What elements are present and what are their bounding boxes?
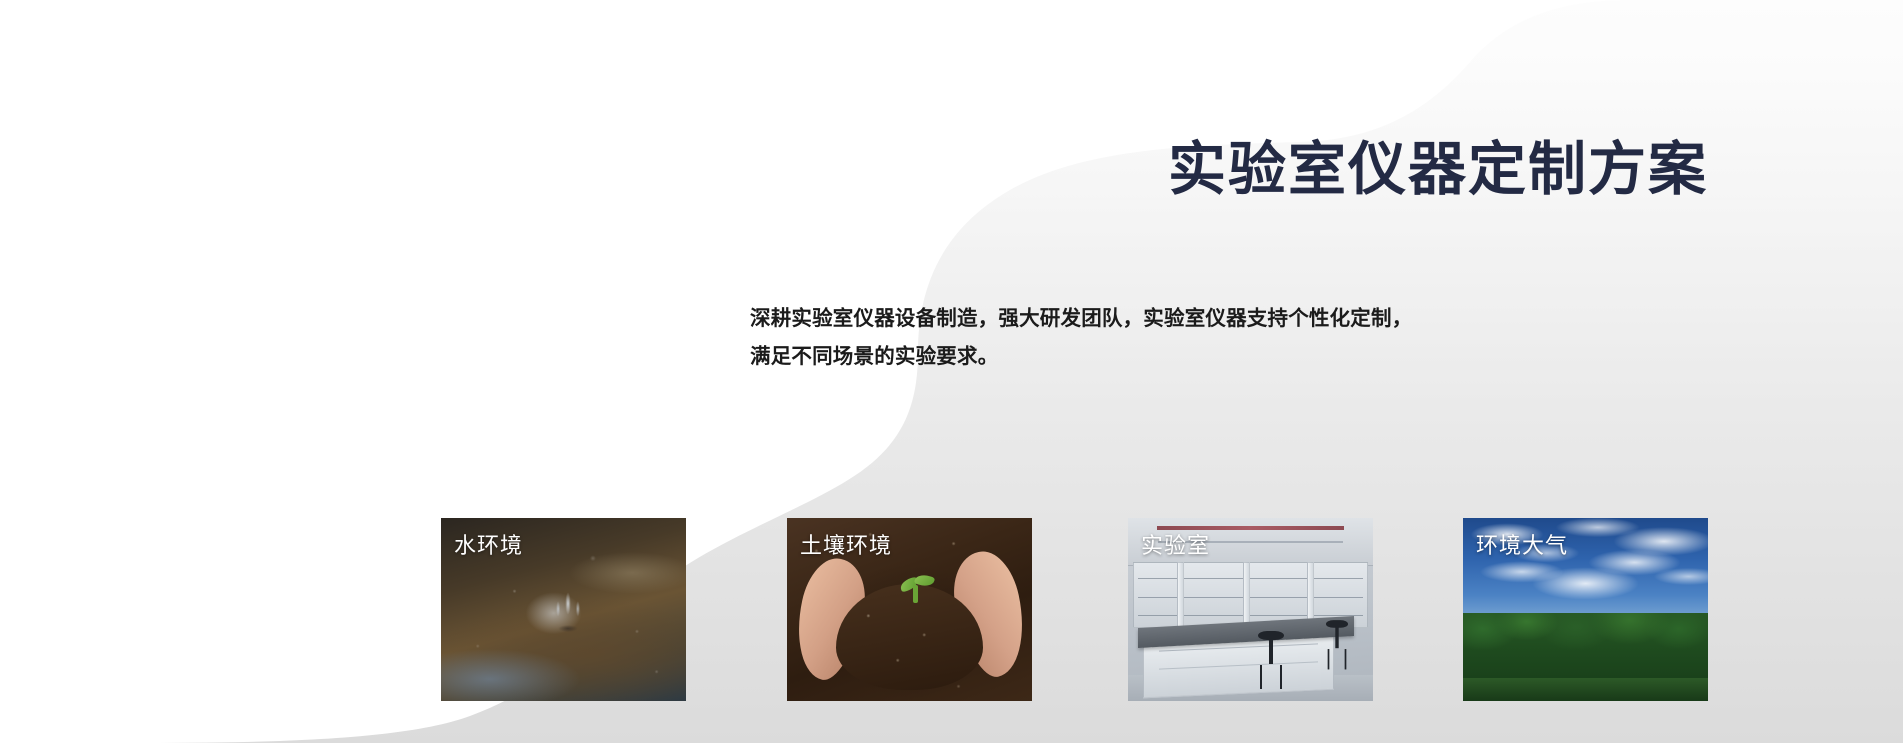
decorative-circle-small: [296, 541, 366, 611]
forest-treeline-detail: [1463, 613, 1708, 701]
category-card-label: 土壤环境: [800, 528, 892, 560]
lab-shelf-detail: [1138, 597, 1363, 598]
category-card-soil[interactable]: 土壤环境: [787, 518, 1032, 701]
category-card-label: 水环境: [454, 528, 523, 560]
category-card-list: 水环境 土壤环境: [441, 518, 1708, 701]
page-title: 实验室仪器定制方案: [1168, 138, 1708, 202]
category-card-label: 实验室: [1141, 528, 1210, 560]
laboratory-instrument-banner: 实验室仪器定制方案 深耕实验室仪器设备制造，强大研发团队，实验室仪器支持个性化定…: [0, 0, 1903, 743]
banner-subtitle: 深耕实验室仪器设备制造，强大研发团队，实验室仪器支持个性化定制， 满足不同场景的…: [750, 300, 1710, 376]
category-card-water[interactable]: 水环境: [441, 518, 686, 701]
decorative-circle-large: [395, 180, 515, 300]
lab-post-detail: [1243, 562, 1250, 628]
lab-stool-detail: [1326, 620, 1348, 656]
subtitle-line-1: 深耕实验室仪器设备制造，强大研发团队，实验室仪器支持个性化定制，: [750, 300, 1710, 338]
category-card-laboratory[interactable]: 实验室: [1128, 518, 1373, 701]
lab-shelf-detail: [1138, 615, 1363, 616]
lab-stool-detail: [1258, 631, 1284, 673]
lab-shelf-detail: [1138, 578, 1363, 579]
lab-post-detail: [1177, 562, 1184, 628]
subtitle-line-2: 满足不同场景的实验要求。: [750, 338, 1710, 376]
category-card-label: 环境大气: [1476, 528, 1568, 560]
seedling-detail: [900, 573, 934, 603]
category-card-atmosphere[interactable]: 环境大气: [1463, 518, 1708, 701]
water-splash-detail: [549, 588, 587, 640]
